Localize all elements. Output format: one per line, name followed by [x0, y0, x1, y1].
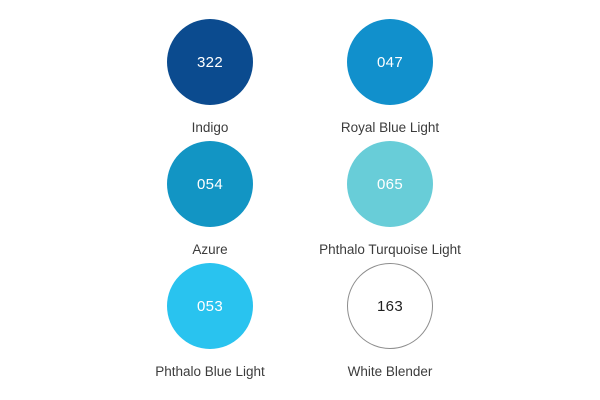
swatch-circle[interactable]: 047 — [347, 19, 433, 105]
swatch-code: 054 — [197, 177, 223, 192]
swatch-white-blender[interactable]: 163 White Blender — [300, 263, 480, 385]
swatch-circle[interactable]: 065 — [347, 141, 433, 227]
swatch-code: 322 — [197, 55, 223, 70]
swatch-circle[interactable]: 163 — [347, 263, 433, 349]
swatch-circle[interactable]: 322 — [167, 19, 253, 105]
swatch-code: 163 — [377, 299, 403, 314]
swatch-label: Royal Blue Light — [341, 121, 439, 135]
swatch-label: Indigo — [192, 121, 229, 135]
swatch-label: Phthalo Blue Light — [155, 365, 265, 379]
swatch-circle[interactable]: 054 — [167, 141, 253, 227]
swatch-circle[interactable]: 053 — [167, 263, 253, 349]
swatch-code: 047 — [377, 55, 403, 70]
swatch-code: 065 — [377, 177, 403, 192]
swatch-label: Phthalo Turquoise Light — [319, 243, 461, 257]
swatch-indigo[interactable]: 322 Indigo — [120, 19, 300, 141]
swatch-phthalo-turquoise-light[interactable]: 065 Phthalo Turquoise Light — [300, 141, 480, 263]
swatch-code: 053 — [197, 299, 223, 314]
swatch-label: White Blender — [348, 365, 433, 379]
swatch-azure[interactable]: 054 Azure — [120, 141, 300, 263]
swatch-label: Azure — [192, 243, 227, 257]
swatch-phthalo-blue-light[interactable]: 053 Phthalo Blue Light — [120, 263, 300, 385]
swatch-royal-blue-light[interactable]: 047 Royal Blue Light — [300, 19, 480, 141]
color-swatch-grid: 322 Indigo 047 Royal Blue Light 054 Azur… — [0, 0, 600, 400]
